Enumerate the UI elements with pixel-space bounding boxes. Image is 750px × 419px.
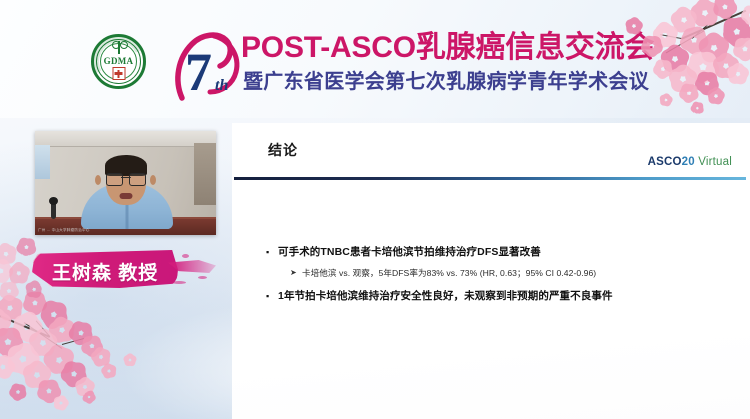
sakura-flower-icon <box>0 280 20 302</box>
sakura-flower-icon <box>45 313 78 346</box>
sub-bullet-text: 卡培他滨 vs. 观察，5年DFS率为83% vs. 73% (HR, 0.63… <box>302 266 596 280</box>
svg-text:7: 7 <box>185 42 212 102</box>
speaker-name-banner: 王树森 教授 <box>32 248 217 290</box>
medical-cross-icon <box>112 67 125 80</box>
sakura-flower-icon <box>34 376 64 406</box>
sakura-decoration-bottom-left <box>0 292 194 419</box>
branch-line <box>62 338 84 345</box>
speaker-mouth <box>119 193 132 199</box>
svg-text:th: th <box>215 77 228 94</box>
sakura-flower-icon <box>0 258 14 284</box>
conference-subtitle: 暨广东省医学会第七次乳腺病学青年学术会议 <box>243 72 649 92</box>
sakura-flower-icon <box>0 325 25 358</box>
sakura-flower-icon <box>53 395 69 411</box>
branch-line <box>36 320 51 337</box>
asco20-virtual-logo: ASCO20 Virtual <box>648 156 732 168</box>
video-window <box>35 145 50 179</box>
sakura-flower-icon <box>99 361 119 381</box>
bullet-item: ▪1年节拍卡培他滨维持治疗安全性良好，未观察到非预期的严重不良事件 <box>266 289 726 304</box>
sakura-flower-icon <box>122 352 139 369</box>
bullet-text: 可手术的TNBC患者卡培他滨节拍维持治疗DFS显著改善 <box>278 245 541 260</box>
sakura-flower-icon <box>7 381 29 403</box>
sakura-flower-icon <box>12 312 42 342</box>
sakura-flower-icon <box>7 261 33 287</box>
presentation-slide[interactable]: 结论 ASCO20 Virtual ▪可手术的TNBC患者卡培他滨节拍维持治疗D… <box>232 123 750 419</box>
slide-title: 结论 <box>268 140 298 160</box>
eyeglasses-icon <box>106 173 146 185</box>
video-ceiling <box>35 131 216 147</box>
sakura-flower-icon <box>42 342 77 377</box>
sakura-flower-icon <box>59 359 90 390</box>
sakura-flower-icon <box>90 346 112 368</box>
conference-livestream-screen: GDMA 7 th POST-ASCO乳腺癌信息交流会 暨广东省医学会第七次乳腺… <box>0 0 750 419</box>
sakura-flower-icon <box>84 392 96 404</box>
slide-divider <box>234 177 746 180</box>
seventh-edition-ribbon-logo: 7 th <box>168 24 244 108</box>
branch-line <box>24 322 63 349</box>
microphone-icon <box>51 201 56 219</box>
bullet-text: 1年节拍卡培他滨维持治疗安全性良好，未观察到非预期的严重不良事件 <box>278 289 613 304</box>
conference-title: POST-ASCO乳腺癌信息交流会 <box>241 33 654 63</box>
asco-logo-part3: Virtual <box>698 156 732 168</box>
sakura-flower-icon <box>25 325 61 361</box>
sakura-flower-icon <box>67 319 94 346</box>
speaker-video-feed[interactable]: 广州 ... 中山大学肿瘤防治中心 <box>35 131 216 235</box>
sub-bullet-item: ➤卡培他滨 vs. 观察，5年DFS率为83% vs. 73% (HR, 0.6… <box>290 266 726 280</box>
conference-header-banner: GDMA 7 th POST-ASCO乳腺癌信息交流会 暨广东省医学会第七次乳腺… <box>0 0 750 118</box>
slide-bullet-list: ▪可手术的TNBC患者卡培他滨节拍维持治疗DFS显著改善➤卡培他滨 vs. 观察… <box>266 245 726 307</box>
bullet-item: ▪可手术的TNBC患者卡培他滨节拍维持治疗DFS显著改善 <box>266 245 726 260</box>
speaker-ear <box>95 175 101 185</box>
sakura-flower-icon <box>0 309 11 337</box>
sakura-flower-icon <box>20 358 54 392</box>
sakura-flower-icon <box>0 352 18 382</box>
gdma-association-logo: GDMA <box>91 34 146 89</box>
sakura-flower-icon <box>79 333 105 359</box>
caduceus-icon <box>118 41 120 54</box>
bullet-marker-icon: ▪ <box>266 245 278 260</box>
branch-line <box>0 310 50 337</box>
speaker-name-text: 王树森 教授 <box>52 258 158 285</box>
sakura-flower-icon <box>74 376 95 397</box>
video-doorframe <box>194 143 216 205</box>
asco-logo-part1: ASCO <box>648 156 682 168</box>
speaker-ear <box>150 175 156 185</box>
sakura-flower-icon <box>19 287 50 318</box>
sakura-flower-icon <box>0 296 22 320</box>
sub-bullet-arrow-icon: ➤ <box>290 266 302 280</box>
asco-logo-part2: 20 <box>682 156 695 168</box>
video-watermark: 广州 ... 中山大学肿瘤防治中心 <box>38 228 90 233</box>
bullet-marker-icon: ▪ <box>266 289 278 304</box>
ribbon-seven-graphic: 7 th <box>168 24 244 108</box>
video-ceiling-line <box>35 146 216 147</box>
gdma-logo-text: GDMA <box>91 56 146 66</box>
sakura-flower-icon <box>0 244 16 264</box>
sakura-flower-icon <box>3 339 43 379</box>
sakura-flower-icon <box>37 297 72 332</box>
